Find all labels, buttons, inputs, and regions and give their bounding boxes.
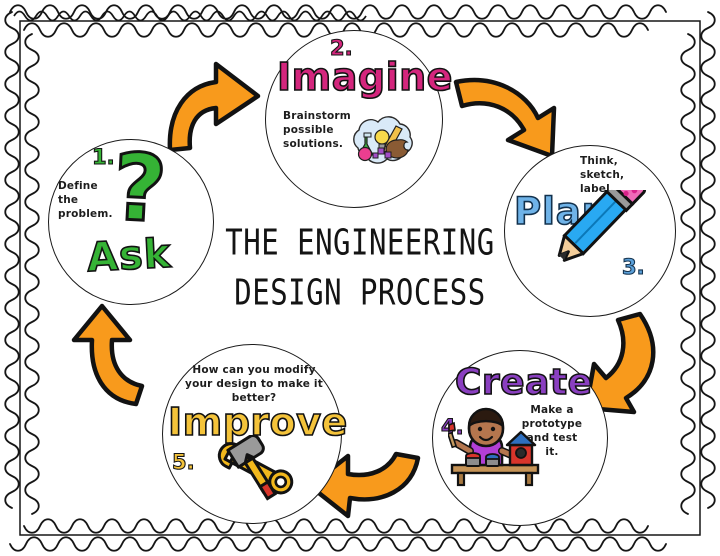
step-word-ask: Ask — [86, 231, 173, 281]
question-mark-icon: ? — [111, 142, 169, 237]
pencil-icon — [540, 190, 660, 295]
step-number-1: 1. — [92, 145, 115, 169]
engineering-design-process-poster: THE ENGINEERING DESIGN PROCESS 1. Define… — [0, 0, 720, 556]
arrow-ask-to-imagine — [158, 52, 278, 162]
step-number-3: 3. — [622, 255, 645, 279]
step-number-5: 5. — [172, 450, 195, 474]
arrow-improve-to-ask — [42, 300, 164, 414]
thought-cloud-icon — [340, 108, 426, 170]
step-word-imagine: Imagine — [277, 55, 453, 99]
diagram-stage: THE ENGINEERING DESIGN PROCESS 1. Define… — [0, 0, 720, 556]
page-title: THE ENGINEERING DESIGN PROCESS — [205, 218, 515, 318]
child-building-icon — [448, 395, 558, 490]
arrow-imagine-to-plan — [448, 52, 578, 164]
title-line-1: THE ENGINEERING — [225, 222, 494, 263]
title-line-2: DESIGN PROCESS — [205, 268, 515, 318]
wrench-hammer-icon — [205, 435, 305, 510]
